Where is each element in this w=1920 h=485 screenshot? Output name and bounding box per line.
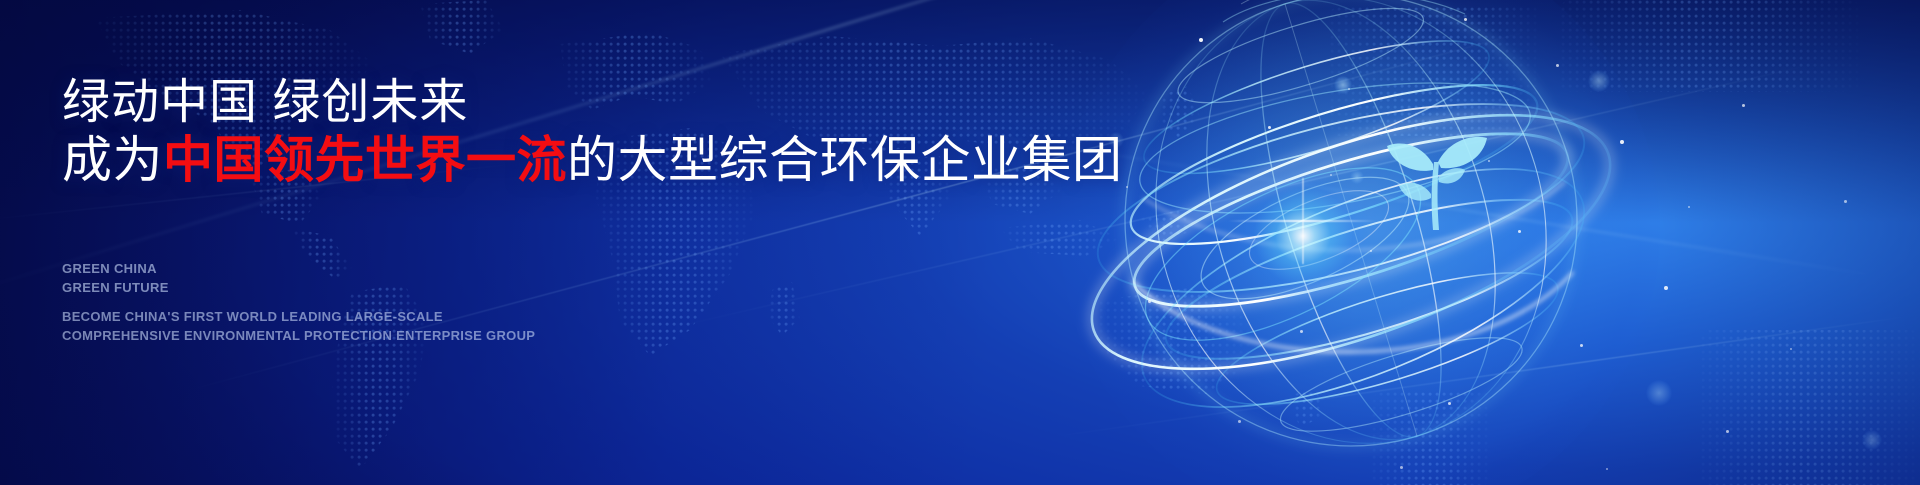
headline-line-2-highlight: 中国领先世界一流: [163, 132, 567, 188]
headline-line-2-suffix: 的大型综合环保企业集团: [567, 132, 1123, 188]
wireframe-globe-graphic: [1073, 0, 1633, 485]
banner-text-block: 绿动中国 绿创未来 成为中国领先世界一流的大型综合环保企业集团 GREEN CH…: [62, 0, 1072, 485]
headline-line-1: 绿动中国 绿创未来: [62, 78, 468, 129]
headline-line-2-prefix: 成为: [62, 132, 163, 188]
slogan-english: GREEN CHINA GREEN FUTURE: [62, 260, 169, 298]
description-english: BECOME CHINA'S FIRST WORLD LEADING LARGE…: [62, 308, 535, 346]
hero-banner: 绿动中国 绿创未来 成为中国领先世界一流的大型综合环保企业集团 GREEN CH…: [0, 0, 1920, 485]
headline-line-2: 成为中国领先世界一流的大型综合环保企业集团: [62, 134, 1123, 187]
